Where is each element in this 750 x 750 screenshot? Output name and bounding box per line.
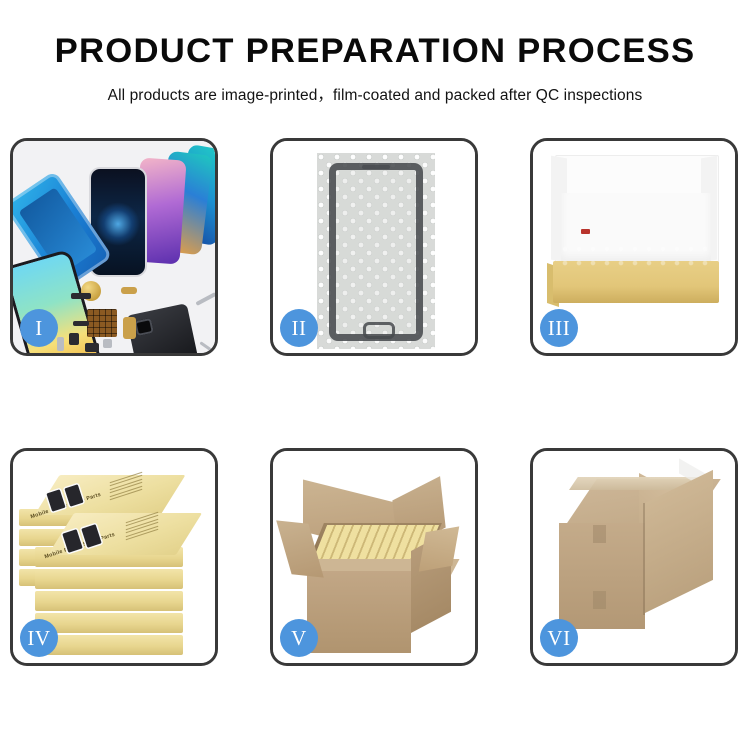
box-spec-lines xyxy=(109,477,143,497)
carton-vertical-edge xyxy=(643,503,645,615)
small-part-bar xyxy=(71,293,91,299)
small-part-block xyxy=(69,333,79,345)
step-panel-6: VI xyxy=(530,448,738,666)
step-badge-3: III xyxy=(540,309,578,347)
page-title: PRODUCT PREPARATION PROCESS xyxy=(0,34,750,70)
retail-box xyxy=(35,613,183,633)
step-panel-5: V xyxy=(270,448,478,666)
step-badge-5: V xyxy=(280,619,318,657)
screen-in-mailer-box-photo: III xyxy=(533,141,735,353)
step-panel-4: Mobile Phone Spare Parts Mobile Phone Sp… xyxy=(10,448,218,666)
carton-seam-upper xyxy=(593,525,606,543)
sealed-carton-photo: VI xyxy=(533,451,735,663)
tool-tweezer xyxy=(195,292,215,306)
red-label-mark xyxy=(581,229,590,234)
step-badge-2: II xyxy=(280,309,318,347)
screw-part xyxy=(199,341,212,351)
phone-back-cover-part xyxy=(126,303,198,353)
step-badge-6: VI xyxy=(540,619,578,657)
page-subtitle: All products are image-printed，film-coat… xyxy=(0,83,750,105)
small-part-block xyxy=(85,343,99,352)
step-badge-4: IV xyxy=(20,619,58,657)
carton-front xyxy=(307,571,411,653)
retail-box xyxy=(35,569,183,589)
stacked-retail-boxes-photo: Mobile Phone Spare Parts Mobile Phone Sp… xyxy=(13,451,215,663)
bubble-wrapped-screen-photo: II xyxy=(273,141,475,353)
product-preparation-infographic: PRODUCT PREPARATION PROCESS All products… xyxy=(0,0,750,750)
phone-parts-illustration: I xyxy=(13,141,215,353)
carton-seam-lower xyxy=(593,591,606,609)
flex-cable-part xyxy=(123,317,136,339)
step-badge-1: I xyxy=(20,309,58,347)
step-panel-3: III xyxy=(530,138,738,356)
step-panel-2: II xyxy=(270,138,478,356)
small-part-metal xyxy=(57,337,64,351)
box-spec-lines xyxy=(125,517,159,537)
retail-box xyxy=(35,591,183,611)
phone-screen xyxy=(329,163,423,341)
mailer-tray xyxy=(553,261,719,303)
small-part-bar xyxy=(73,321,89,326)
step-panel-1: I xyxy=(10,138,218,356)
chip-board-part xyxy=(87,309,117,337)
flex-cable-part xyxy=(121,287,137,294)
small-part-metal xyxy=(103,339,112,348)
screen-in-tray xyxy=(559,243,713,269)
open-carton-photo: V xyxy=(273,451,475,663)
bubble-wrap xyxy=(317,153,435,349)
header: PRODUCT PREPARATION PROCESS All products… xyxy=(0,0,750,105)
process-steps-grid: I II xyxy=(10,138,740,666)
